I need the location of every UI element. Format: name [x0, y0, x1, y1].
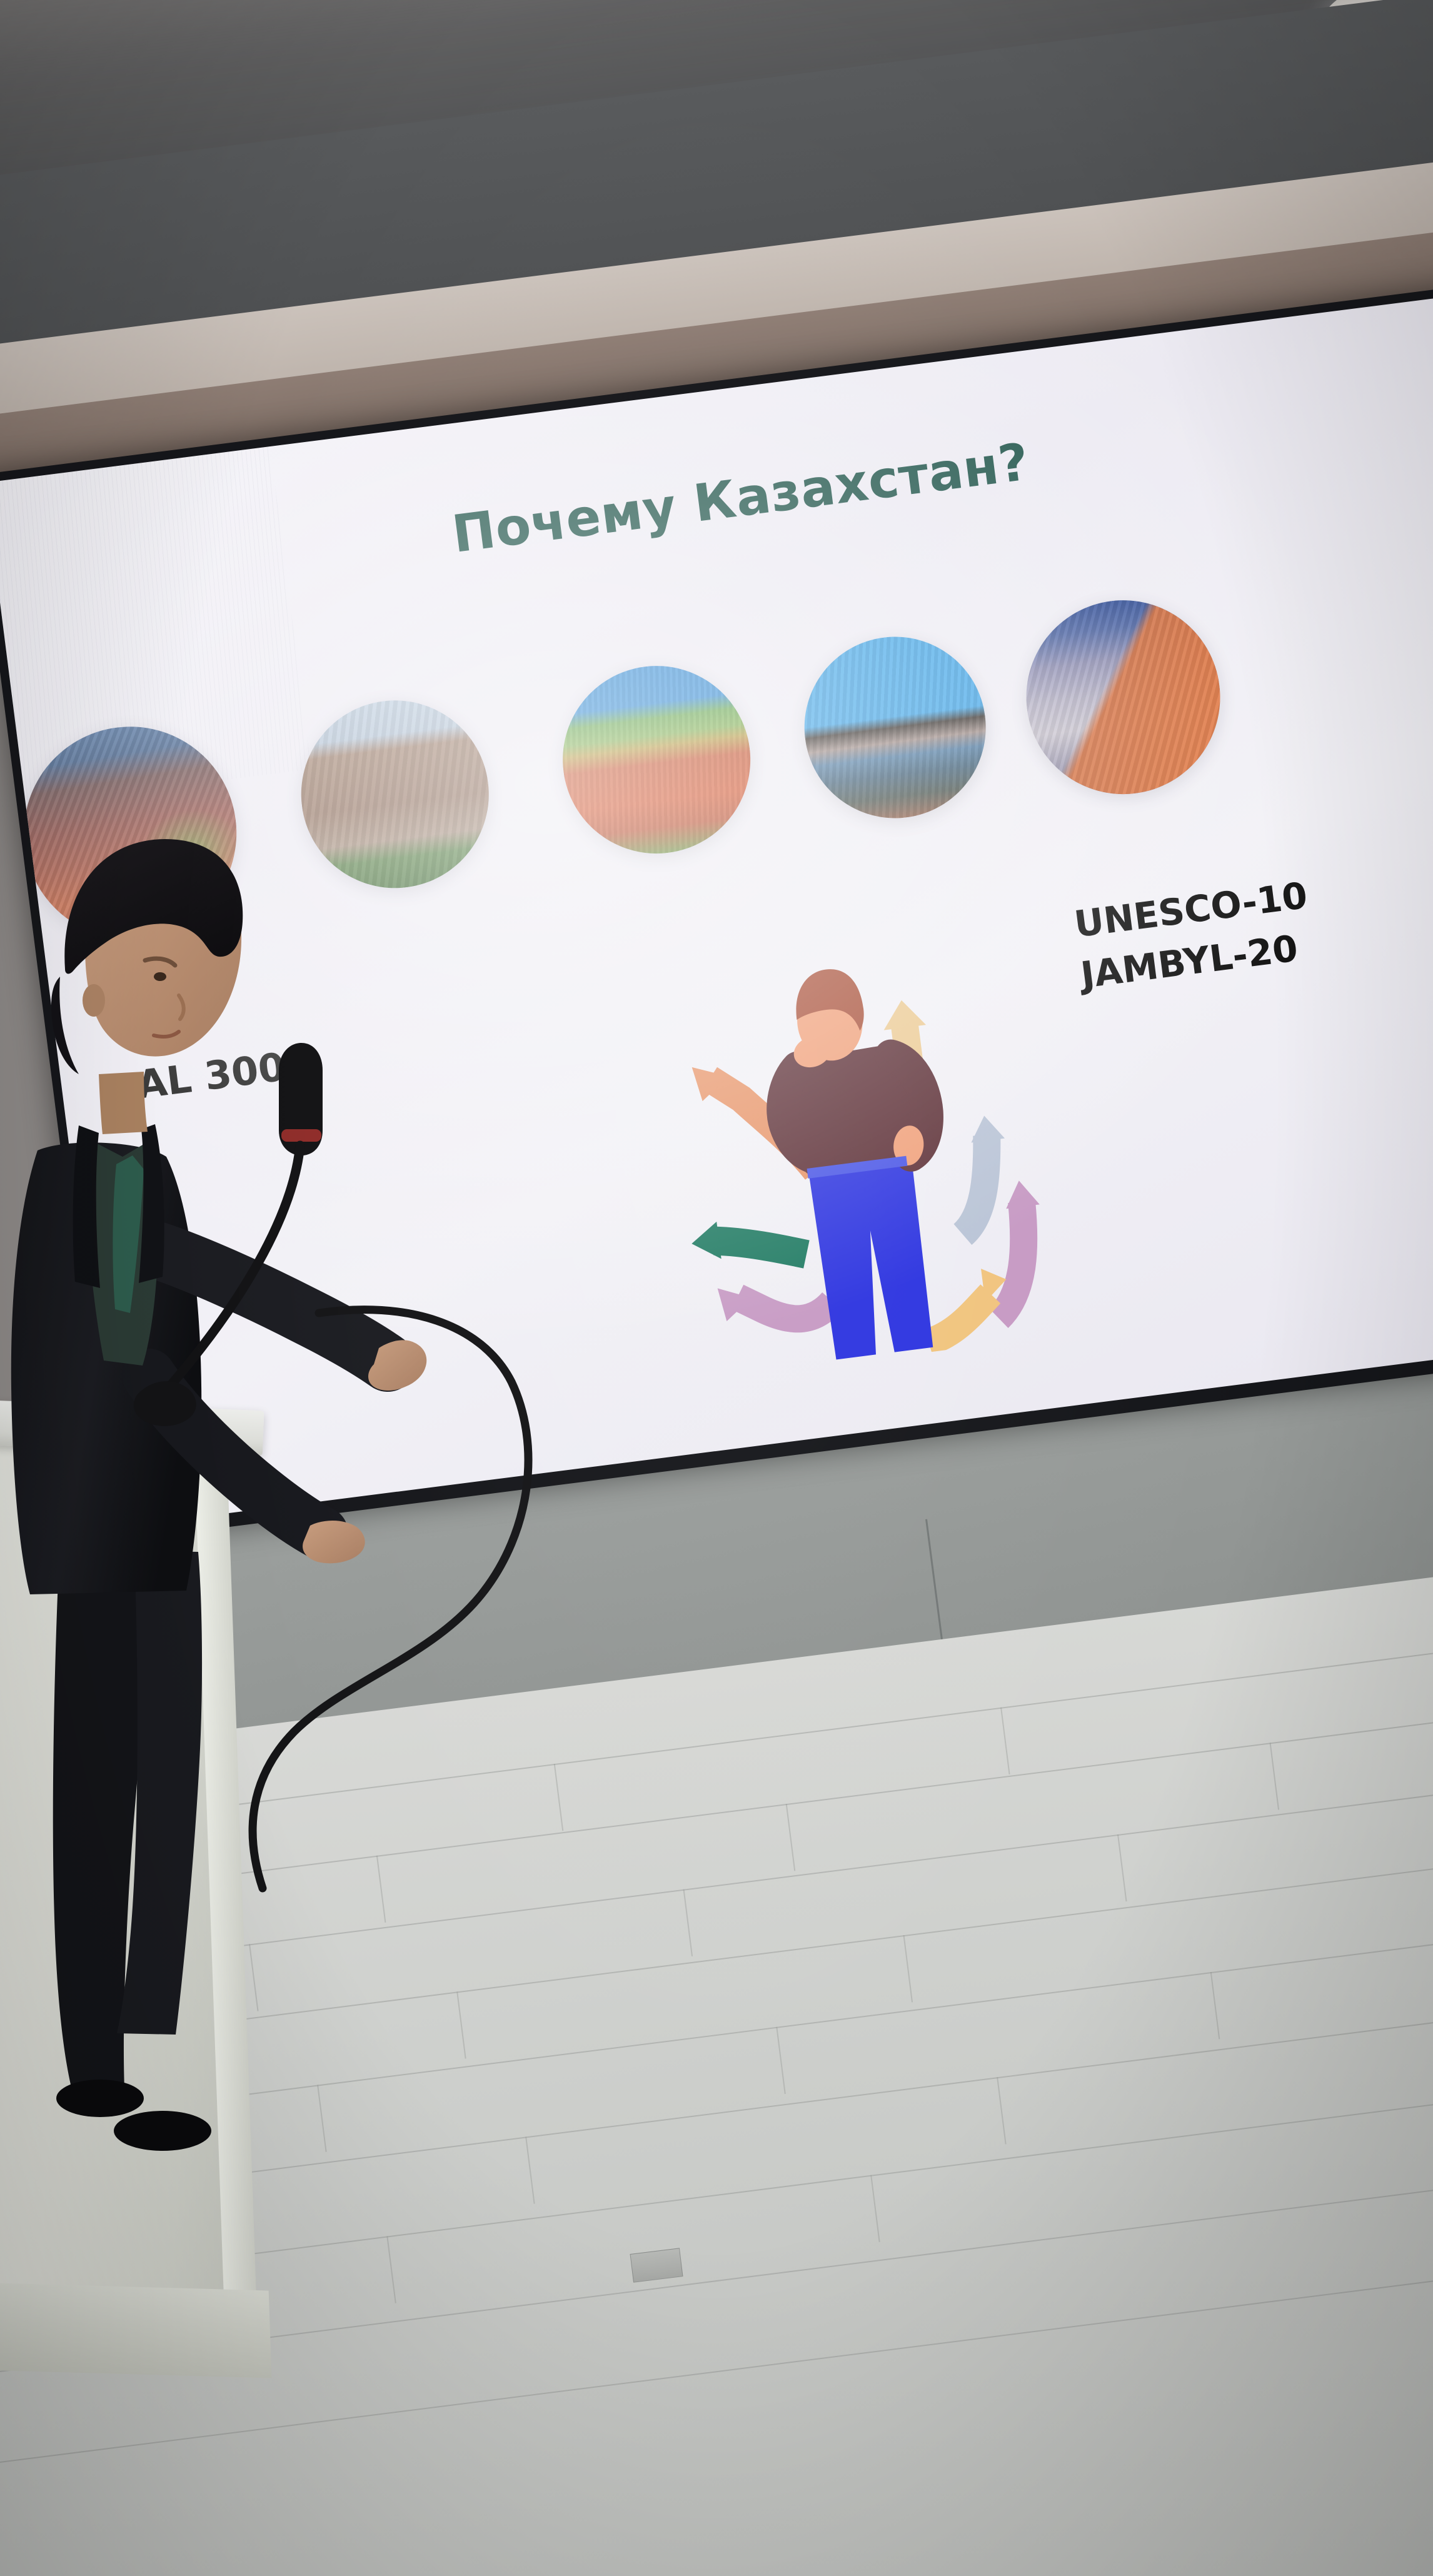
presentation-photo-scene: Почему Казахстан? AL 300 [0, 0, 1433, 2576]
slide-text-right: UNESCO-10 JAMBYL-20 [1072, 870, 1317, 1002]
illustration-person-choosing-direction [596, 872, 1101, 1387]
photo-circle-poppy-steppe [551, 655, 761, 864]
floor-vent [630, 2248, 683, 2282]
podium-base [0, 2282, 272, 2378]
microphone-indicator-ring [281, 1129, 321, 1142]
photo-circle-bozzhyra-cliffs [1015, 589, 1232, 806]
photo-circle-plateau-lake [794, 626, 997, 828]
presentation-cable [219, 1269, 656, 1894]
